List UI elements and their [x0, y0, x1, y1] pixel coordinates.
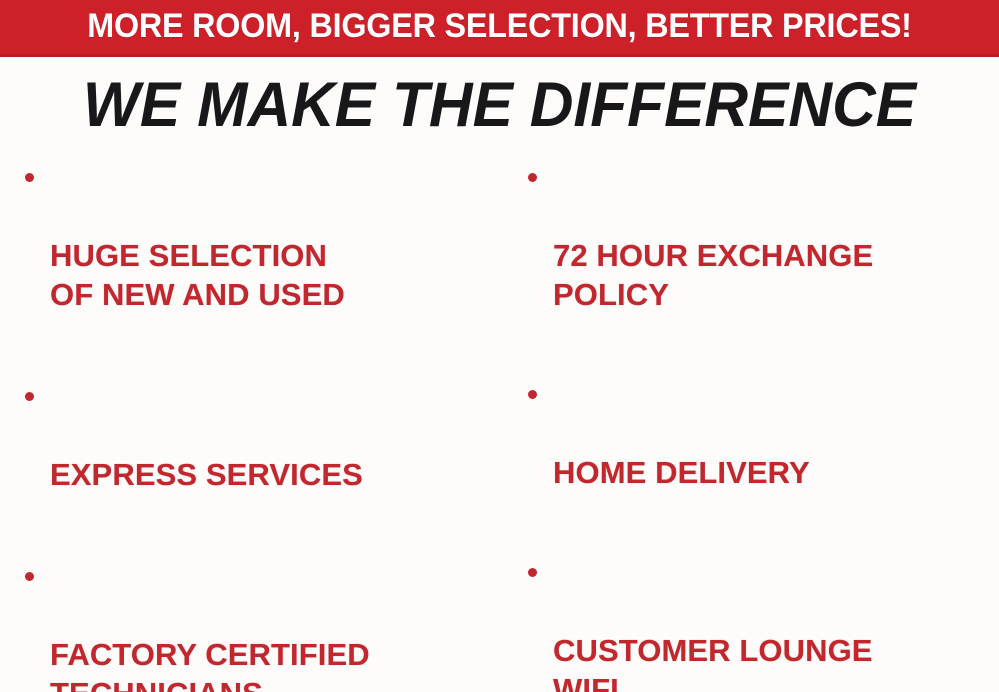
- features-columns: HUGE SELECTION OF NEW AND USED EXPRESS S…: [0, 158, 999, 692]
- feature-item: CUSTOMER LOUNGE WIFI: [513, 553, 999, 692]
- feature-item: HUGE SELECTION OF NEW AND USED: [10, 158, 505, 353]
- feature-label: CUSTOMER LOUNGE WIFI: [553, 631, 999, 692]
- feature-label: EXPRESS SERVICES: [50, 455, 505, 494]
- feature-item: EXPRESS SERVICES: [10, 377, 505, 533]
- feature-label: FACTORY CERTIFIED TECHNICIANS: [50, 635, 505, 692]
- bullet-dot-icon: [25, 173, 34, 182]
- bullet-dot-icon: [528, 390, 537, 399]
- bullet-dot-icon: [528, 173, 537, 182]
- feature-item: FACTORY CERTIFIED TECHNICIANS: [10, 557, 505, 692]
- bullet-dot-icon: [25, 572, 34, 581]
- features-column-right: 72 HOUR EXCHANGE POLICY HOME DELIVERY CU…: [513, 158, 999, 692]
- bullet-dot-icon: [528, 568, 537, 577]
- feature-item: 72 HOUR EXCHANGE POLICY: [513, 158, 999, 353]
- features-column-left: HUGE SELECTION OF NEW AND USED EXPRESS S…: [10, 158, 505, 692]
- feature-item: HOME DELIVERY: [513, 375, 999, 531]
- promotional-poster: MORE ROOM, BIGGER SELECTION, BETTER PRIC…: [0, 0, 999, 692]
- feature-label: 72 HOUR EXCHANGE POLICY: [553, 236, 999, 314]
- banner-headline-text: MORE ROOM, BIGGER SELECTION, BETTER PRIC…: [25, 6, 974, 46]
- top-banner: MORE ROOM, BIGGER SELECTION, BETTER PRIC…: [0, 0, 999, 57]
- feature-label: HOME DELIVERY: [553, 453, 999, 492]
- bullet-dot-icon: [25, 392, 34, 401]
- feature-label: HUGE SELECTION OF NEW AND USED: [50, 236, 505, 314]
- main-headline: WE MAKE THE DIFFERENCE: [20, 70, 979, 140]
